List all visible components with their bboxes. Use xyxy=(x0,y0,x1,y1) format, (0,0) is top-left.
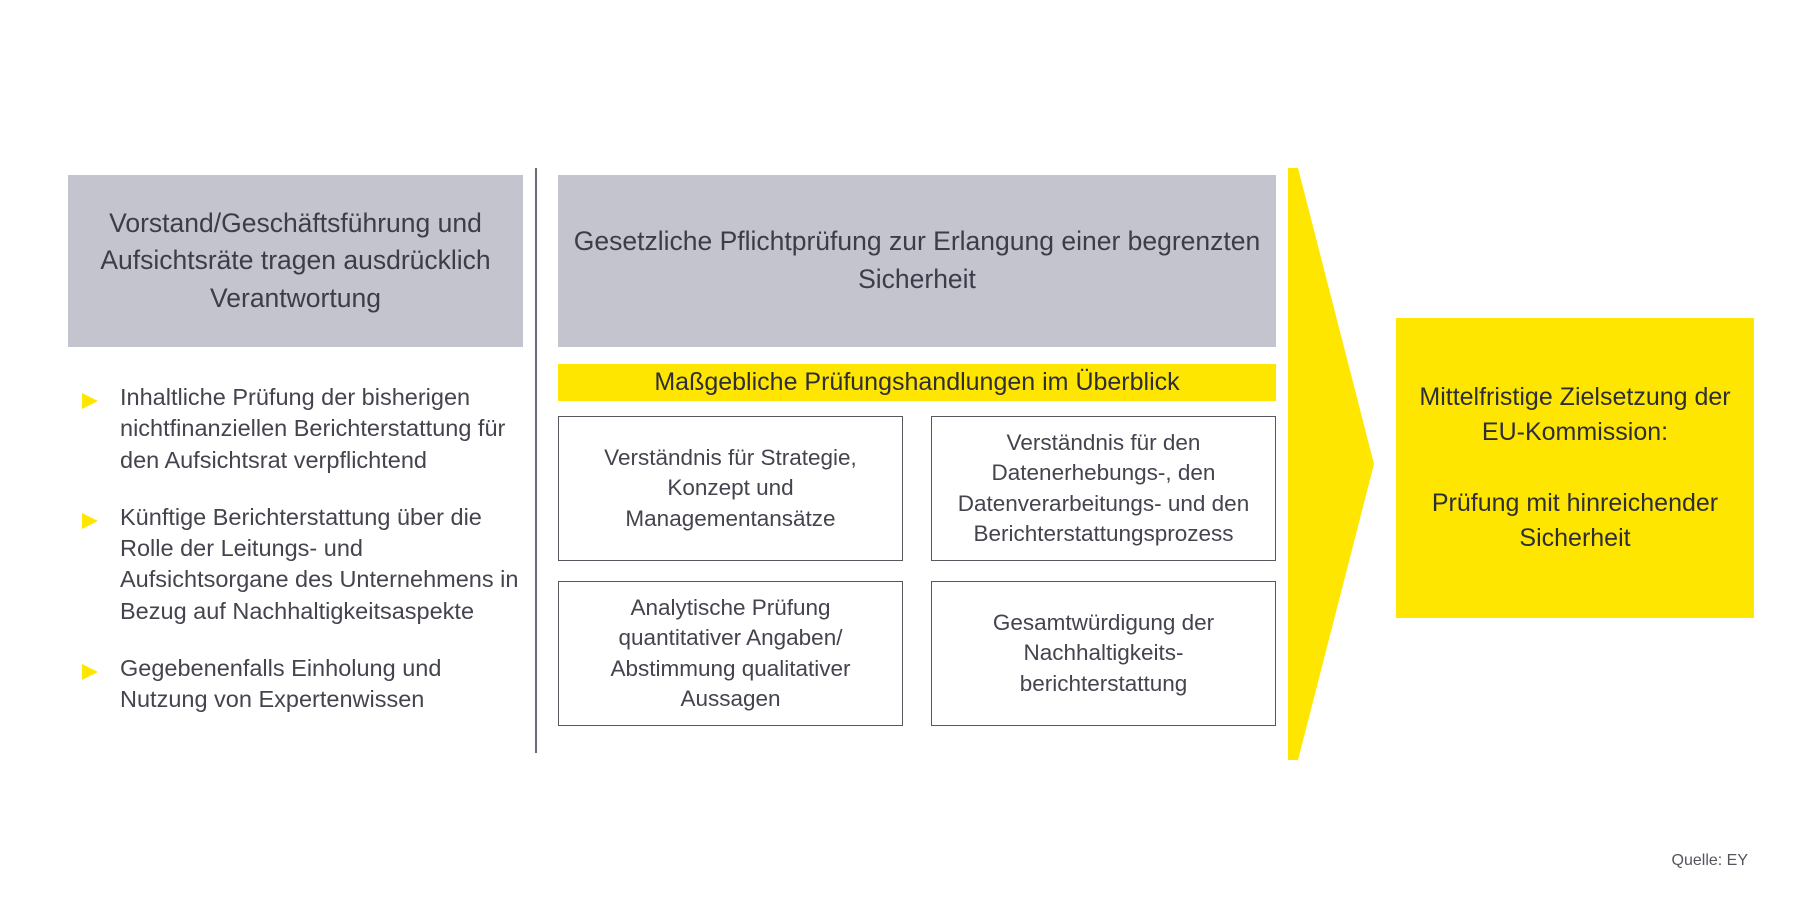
triangle-right-icon xyxy=(80,662,104,682)
left-column: Vorstand/Geschäftsführung und Aufsichtsr… xyxy=(68,175,523,347)
list-item: Künftige Berichterstattung über die Roll… xyxy=(80,502,530,627)
list-item-label: Inhaltliche Prüfung der bisherigen nicht… xyxy=(120,382,530,476)
triangle-right-icon xyxy=(80,391,104,411)
triangle-right-icon xyxy=(80,511,104,531)
left-heading-banner: Vorstand/Geschäftsführung und Aufsichtsr… xyxy=(68,175,523,347)
middle-column: Gesetzliche Pflichtprüfung zur Erlangung… xyxy=(558,175,1276,726)
middle-heading-banner: Gesetzliche Pflichtprüfung zur Erlangung… xyxy=(558,175,1276,347)
goal-box-line-2: Prüfung mit hinreichender Sicherheit xyxy=(1410,486,1740,556)
list-item-label: Künftige Berichterstattung über die Roll… xyxy=(120,502,530,627)
chevron-right-arrow-icon xyxy=(1288,168,1374,760)
procedure-box: Verständnis für den Datenerhebungs-, den… xyxy=(931,416,1276,561)
procedure-box: Analytische Prüfung quantitativer Angabe… xyxy=(558,581,903,726)
procedure-box: Verständnis für Strategie, Konzept und M… xyxy=(558,416,903,561)
goal-box: Mittelfristige Zielsetzung der EU-Kommis… xyxy=(1396,318,1754,618)
list-item: Gegebenenfalls Einholung und Nutzung von… xyxy=(80,653,530,716)
procedures-strip-label: Maßgebliche Prüfungshandlungen im Überbl… xyxy=(558,364,1276,401)
list-item-label: Gegebenenfalls Einholung und Nutzung von… xyxy=(120,653,530,716)
procedures-grid: Verständnis für Strategie, Konzept und M… xyxy=(558,416,1276,726)
list-item: Inhaltliche Prüfung der bisherigen nicht… xyxy=(80,382,530,476)
slide-canvas: Vorstand/Geschäftsführung und Aufsichtsr… xyxy=(0,0,1800,922)
column-divider xyxy=(535,168,537,753)
procedure-box: Gesamtwürdigung der Nachhaltigkeits-beri… xyxy=(931,581,1276,726)
left-bullet-list: Inhaltliche Prüfung der bisherigen nicht… xyxy=(80,382,530,741)
source-note: Quelle: EY xyxy=(1672,852,1748,870)
goal-box-line-1: Mittelfristige Zielsetzung der EU-Kommis… xyxy=(1410,380,1740,450)
